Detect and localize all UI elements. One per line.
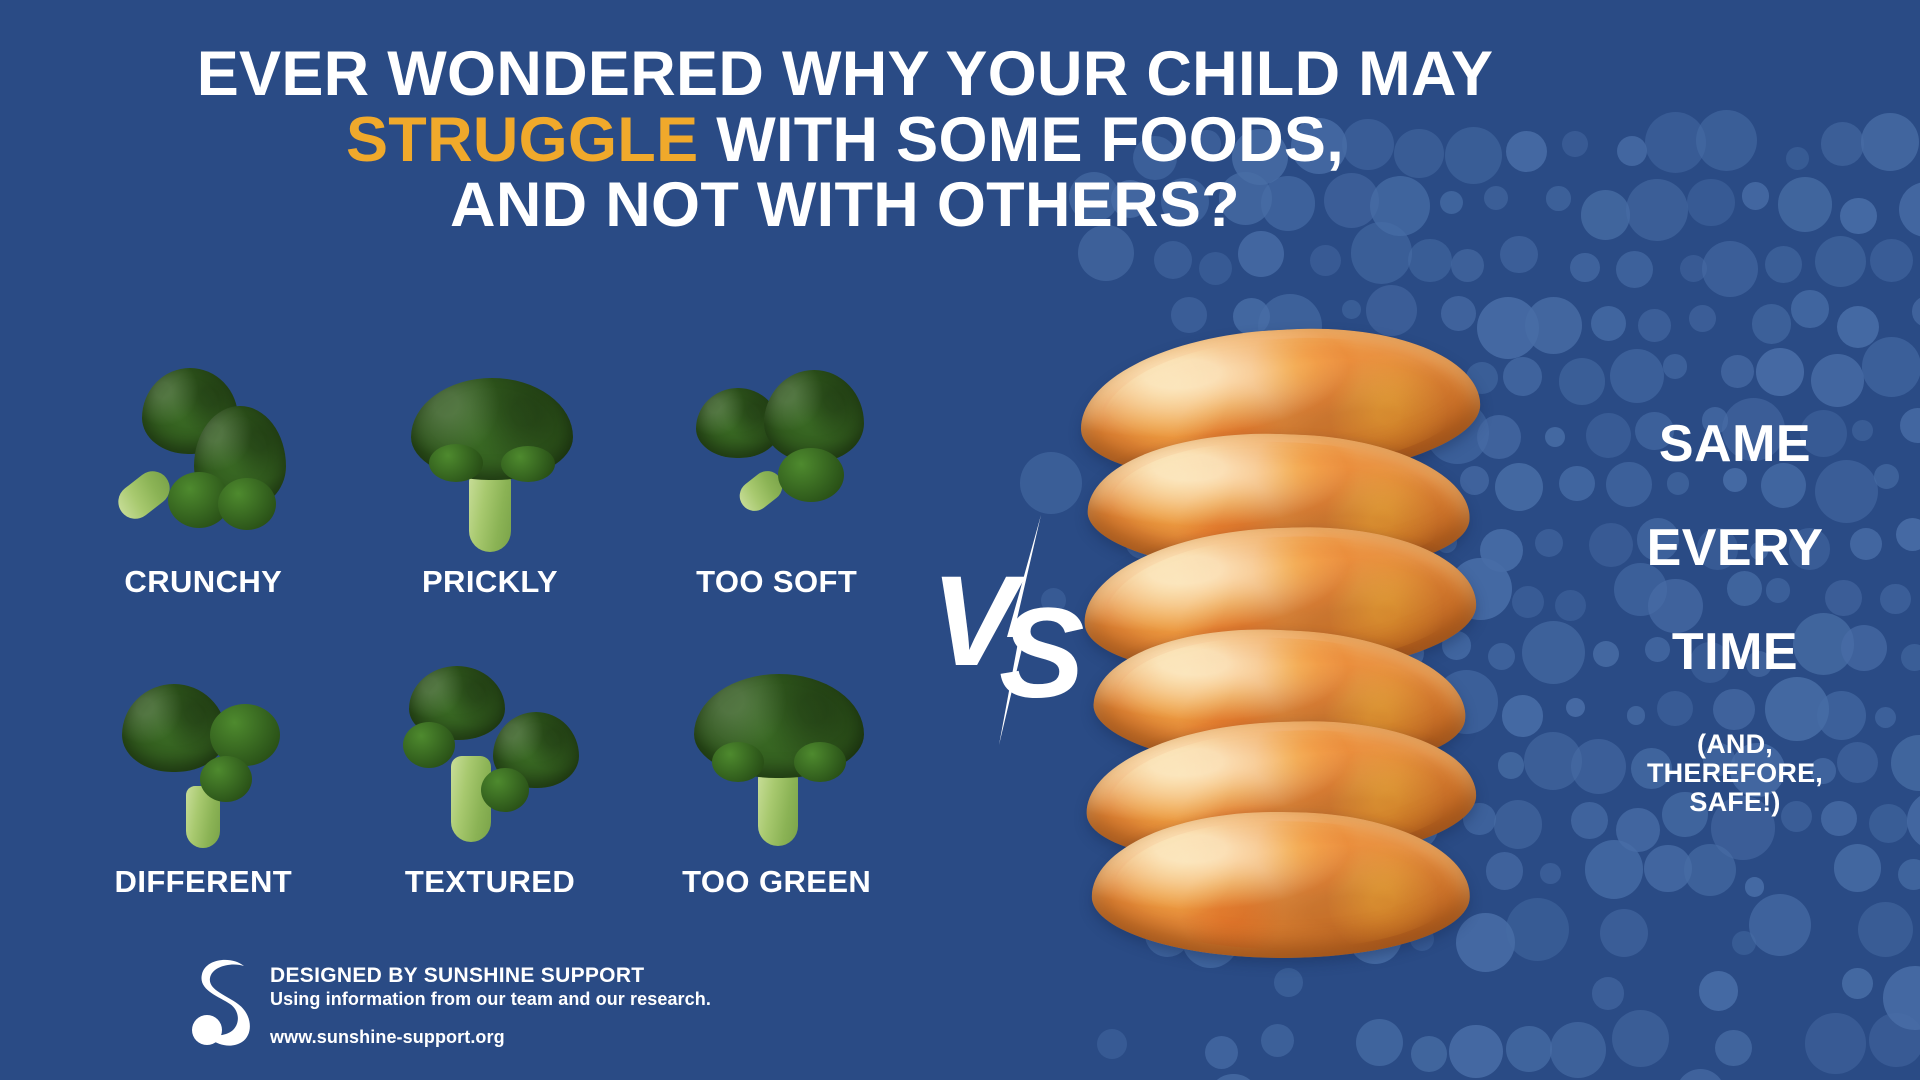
background-dot	[1540, 863, 1561, 884]
background-dot	[1687, 179, 1734, 226]
background-dot	[1502, 695, 1543, 736]
background-dot	[1811, 354, 1864, 407]
background-dot	[1840, 198, 1876, 234]
background-dot	[1154, 241, 1192, 279]
background-dot	[1837, 306, 1879, 348]
broccoli-label: DIFFERENT	[115, 864, 293, 900]
background-dot	[1765, 246, 1802, 283]
background-dot	[1861, 113, 1919, 171]
background-dot	[1610, 349, 1664, 403]
headline-accent-word: STRUGGLE	[346, 105, 698, 175]
background-dot	[1786, 147, 1809, 170]
background-dot	[1274, 968, 1303, 997]
right-text-note: (AND, THEREFORE, SAFE!)	[1560, 730, 1910, 817]
background-dot	[1570, 253, 1599, 282]
broccoli-icon	[682, 360, 872, 560]
broccoli-item-crunchy: CRUNCHY	[60, 300, 347, 600]
background-dot	[1702, 241, 1758, 297]
background-dot	[1842, 968, 1873, 999]
background-dot	[1097, 1029, 1127, 1059]
broccoli-item-prickly: PRICKLY	[347, 300, 634, 600]
background-dot	[1494, 800, 1542, 848]
background-dot	[1676, 1069, 1725, 1080]
broccoli-item-textured: TEXTURED	[347, 600, 634, 900]
right-text-same: SAME	[1560, 418, 1910, 470]
background-dot	[1411, 1036, 1447, 1072]
broccoli-label: PRICKLY	[422, 564, 558, 600]
right-text-time: TIME	[1560, 626, 1910, 678]
background-dot	[1689, 305, 1716, 332]
broccoli-icon	[395, 360, 585, 560]
background-dot	[1205, 1036, 1238, 1069]
background-dot	[1870, 239, 1913, 282]
background-dot	[1715, 1030, 1751, 1066]
background-dot	[1020, 452, 1082, 514]
background-dot	[1500, 236, 1538, 274]
footer-branding: DESIGNED BY SUNSHINE SUPPORT Using infor…	[190, 958, 711, 1050]
background-dot	[1585, 840, 1644, 899]
background-dot	[1441, 296, 1476, 331]
broccoli-item-too-green: TOO GREEN	[633, 600, 920, 900]
background-dot	[1559, 358, 1605, 404]
logo-glyph	[190, 958, 252, 1050]
background-dot	[1506, 1026, 1552, 1072]
background-dot	[1612, 1010, 1669, 1067]
background-dot	[1592, 977, 1624, 1009]
footer-subtitle: Using information from our team and our …	[270, 989, 711, 1011]
background-dot	[1862, 337, 1920, 397]
footer-title: DESIGNED BY SUNSHINE SUPPORT	[270, 964, 711, 988]
headline-line-1: EVER WONDERED WHY YOUR CHILD MAY	[0, 42, 1690, 108]
background-dot	[1506, 898, 1569, 961]
broccoli-label: TOO GREEN	[682, 864, 871, 900]
background-dot	[1451, 249, 1484, 282]
broccoli-label: TOO SOFT	[696, 564, 857, 600]
background-dot	[1732, 931, 1756, 955]
right-text-every: EVERY	[1560, 522, 1910, 574]
footer-text-block: DESIGNED BY SUNSHINE SUPPORT Using infor…	[270, 958, 711, 1048]
background-dot	[1721, 355, 1754, 388]
chicken-nugget-stack-icon	[1080, 330, 1500, 970]
broccoli-item-too-soft: TOO SOFT	[633, 300, 920, 600]
broccoli-icon	[108, 660, 298, 860]
background-dot	[1449, 1025, 1503, 1079]
background-dot	[1550, 1022, 1606, 1078]
sunshine-support-s-logo-icon	[190, 958, 252, 1050]
background-dot	[1815, 236, 1866, 287]
background-dot	[1680, 255, 1707, 282]
headline-line-2: STRUGGLE WITH SOME FOODS,	[0, 108, 1690, 174]
broccoli-item-different: DIFFERENT	[60, 600, 347, 900]
background-dot	[1498, 752, 1524, 778]
background-dot	[1591, 306, 1626, 341]
footer-url[interactable]: www.sunshine-support.org	[270, 1027, 711, 1048]
headline-line-3: AND NOT WITH OTHERS?	[0, 173, 1690, 239]
background-dot	[1616, 251, 1654, 289]
background-dot	[1791, 290, 1828, 327]
background-dot	[1898, 859, 1920, 890]
background-dot	[1778, 177, 1832, 231]
background-dot	[1899, 182, 1920, 237]
background-dot	[1858, 902, 1913, 957]
background-dot	[1535, 529, 1563, 557]
background-dot	[1199, 252, 1232, 285]
background-dot	[1503, 357, 1542, 396]
broccoli-attributes-grid: CRUNCHY PRICKLY TOO SOFT	[60, 300, 920, 900]
right-column-text: SAME EVERY TIME (AND, THEREFORE, SAFE!)	[1560, 418, 1910, 817]
background-dot	[1366, 285, 1417, 336]
background-dot	[1805, 1013, 1865, 1073]
background-dot	[1638, 309, 1671, 342]
page-title: EVER WONDERED WHY YOUR CHILD MAY STRUGGL…	[0, 42, 1690, 239]
background-dot	[1512, 586, 1544, 618]
background-dot	[1699, 971, 1738, 1010]
background-dot	[1356, 1019, 1403, 1066]
background-dot	[1495, 463, 1544, 512]
background-dot	[1408, 239, 1452, 283]
background-dot	[1342, 300, 1361, 319]
svg-text:S: S	[999, 582, 1084, 725]
background-dot	[1752, 304, 1792, 344]
background-dot	[1310, 245, 1341, 276]
broccoli-icon	[108, 360, 298, 560]
vs-icon: V S	[925, 515, 1125, 745]
broccoli-icon	[395, 660, 585, 860]
background-dot	[1600, 909, 1648, 957]
background-dot	[1869, 1013, 1920, 1067]
background-dot	[1663, 354, 1688, 379]
background-dot	[1696, 110, 1757, 171]
background-dot	[1644, 845, 1692, 893]
background-dot	[1208, 1074, 1258, 1080]
background-dot	[1684, 844, 1737, 897]
infographic-canvas: EVER WONDERED WHY YOUR CHILD MAY STRUGGL…	[0, 0, 1920, 1080]
background-dot	[1834, 844, 1881, 891]
background-dot	[1525, 297, 1582, 354]
background-dot	[1821, 122, 1865, 166]
broccoli-icon	[682, 660, 872, 860]
broccoli-label: CRUNCHY	[124, 564, 282, 600]
vs-badge: V S	[925, 515, 1125, 745]
background-dot	[1749, 894, 1811, 956]
background-dot	[1742, 182, 1769, 209]
headline-line-2-rest: WITH SOME FOODS,	[698, 105, 1344, 175]
background-dot	[1883, 966, 1920, 1030]
background-dot	[1756, 348, 1804, 396]
background-dot	[1745, 877, 1765, 897]
background-dot	[1261, 1024, 1294, 1057]
broccoli-label: TEXTURED	[405, 864, 575, 900]
background-dot	[1171, 297, 1207, 333]
background-dot	[1912, 296, 1920, 327]
